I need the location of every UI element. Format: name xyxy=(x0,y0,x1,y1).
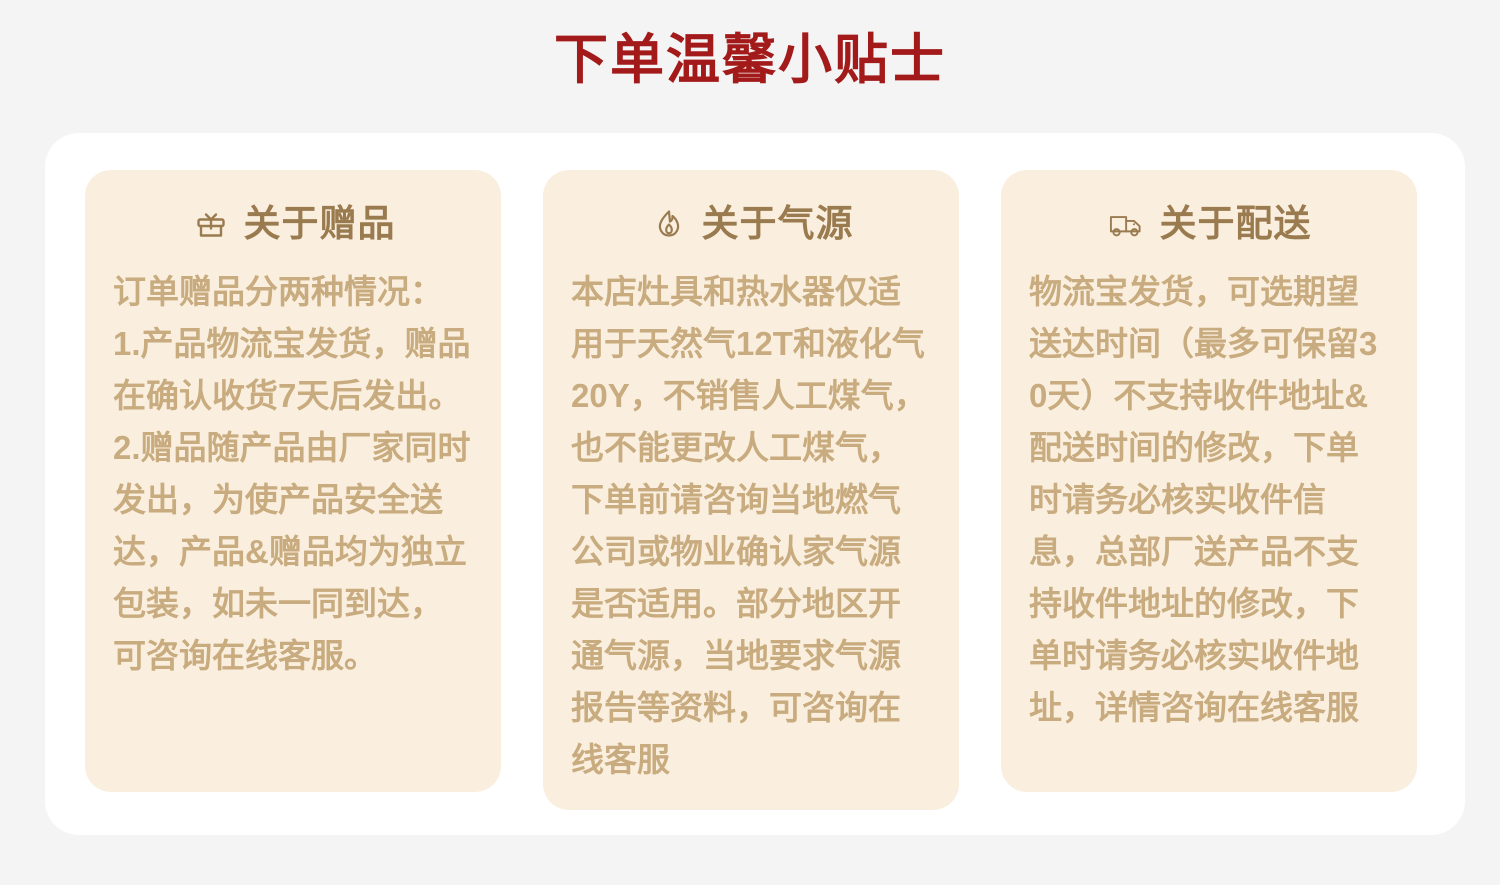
tip-card-gifts-header: 关于赠品 xyxy=(111,196,475,252)
tips-page: 下单温馨小贴士 关于赠品 订单赠品分两种情况： 1.产品物流宝发 xyxy=(0,0,1500,885)
tips-panel: 关于赠品 订单赠品分两种情况： 1.产品物流宝发货，赠品在确认收货7天后发出。 … xyxy=(45,133,1465,835)
tip-card-gifts-title: 关于赠品 xyxy=(244,202,396,246)
tip-card-gifts-body: 订单赠品分两种情况： 1.产品物流宝发货，赠品在确认收货7天后发出。 2.赠品随… xyxy=(111,266,475,682)
delivery-truck-icon xyxy=(1107,204,1147,244)
gift-box-icon xyxy=(191,204,231,244)
tip-card-gas-source-body: 本店灶具和热水器仅适用于天然气12T和液化气20Y，不销售人工煤气，也不能更改人… xyxy=(569,266,933,786)
tip-card-delivery-title: 关于配送 xyxy=(1160,202,1312,246)
tip-card-gas-source-header: 关于气源 xyxy=(569,196,933,252)
tip-card-gifts: 关于赠品 订单赠品分两种情况： 1.产品物流宝发货，赠品在确认收货7天后发出。 … xyxy=(85,170,501,792)
flame-icon xyxy=(649,204,689,244)
tip-card-gas-source-title: 关于气源 xyxy=(702,202,854,246)
tip-card-gas-source: 关于气源 本店灶具和热水器仅适用于天然气12T和液化气20Y，不销售人工煤气，也… xyxy=(543,170,959,810)
tip-card-delivery: 关于配送 物流宝发货，可选期望送达时间（最多可保留30天）不支持收件地址&配送时… xyxy=(1001,170,1417,792)
tip-card-delivery-body: 物流宝发货，可选期望送达时间（最多可保留30天）不支持收件地址&配送时间的修改，… xyxy=(1027,266,1391,734)
page-title: 下单温馨小贴士 xyxy=(0,26,1500,94)
tips-card-list: 关于赠品 订单赠品分两种情况： 1.产品物流宝发货，赠品在确认收货7天后发出。 … xyxy=(85,170,1417,792)
tip-card-delivery-header: 关于配送 xyxy=(1027,196,1391,252)
